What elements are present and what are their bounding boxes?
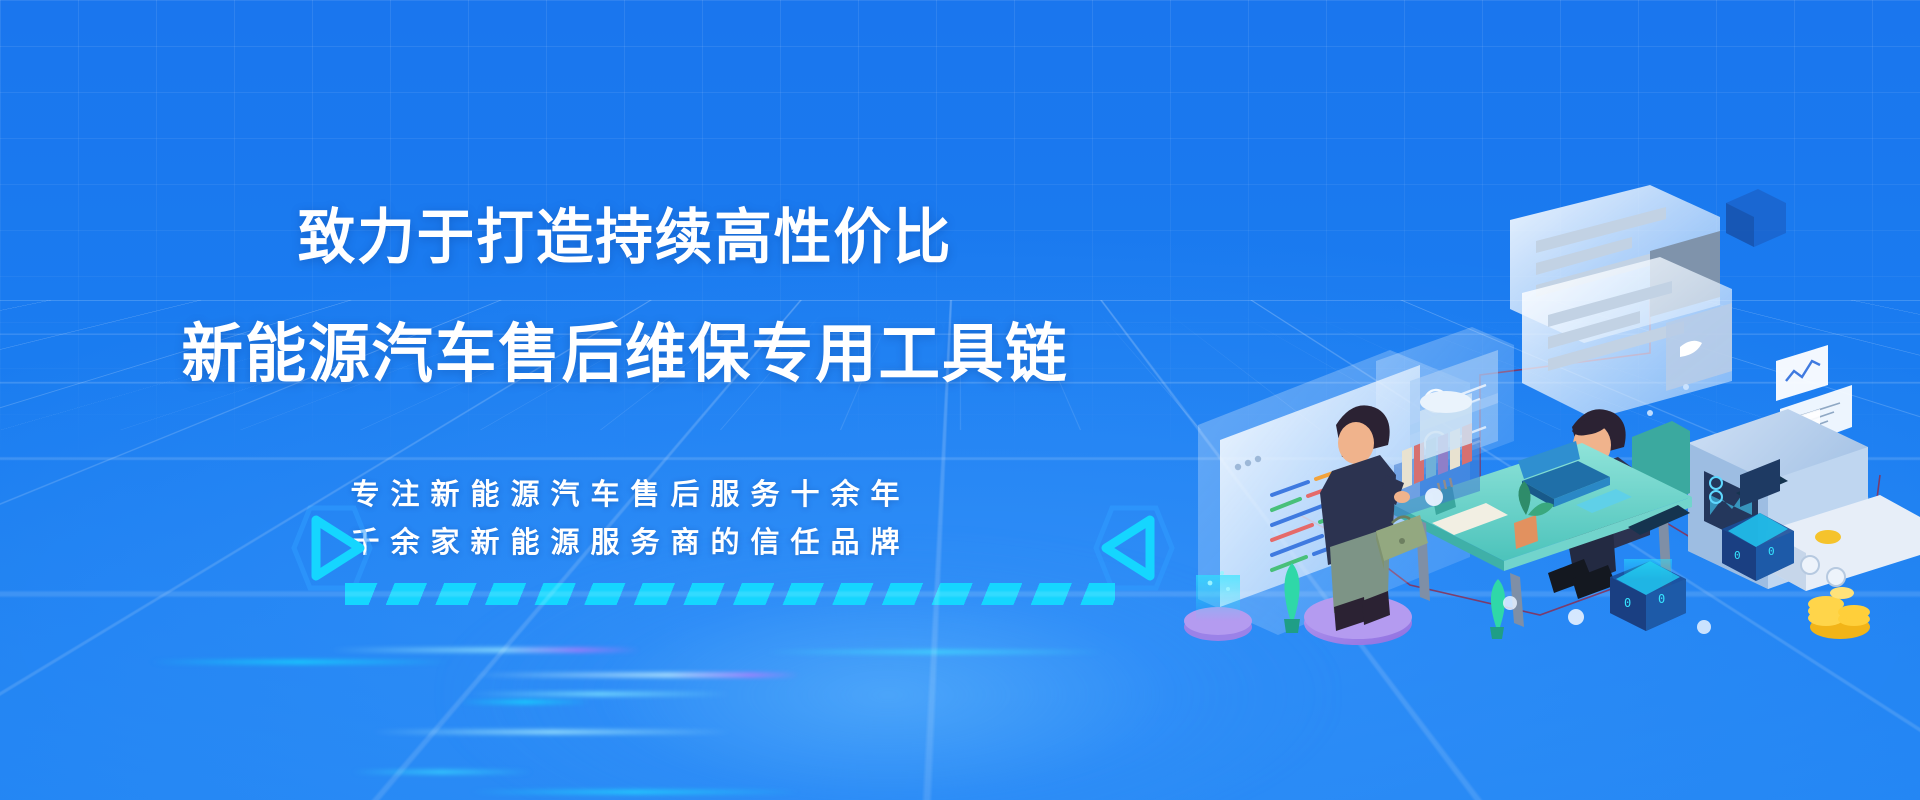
svg-text:0: 0 [1624,596,1631,610]
svg-text:0: 0 [1768,545,1775,558]
light-streak [470,673,800,677]
svg-text:0: 0 [1658,592,1665,606]
play-triangle-right-icon [290,500,374,596]
light-streak [470,790,800,794]
subtitle-block: 专注新能源汽车售后服务十余年 千余家新能源服务商的信任品牌 [0,470,1250,566]
hero-banner: 致力于打造持续高性价比 新能源汽车售后维保专用工具链 专注新能源汽车售后服务十余… [0,0,1920,800]
potted-plant [1284,563,1300,633]
floating-sphere [1425,488,1443,506]
potted-plant [1490,579,1505,639]
light-streak [765,650,1105,654]
diagonal-stripe-bar [345,583,1115,605]
isometric-business-office-illustration: 0 0 0 0 [1180,175,1920,645]
svg-text:0: 0 [1734,549,1741,562]
light-streak [372,730,732,734]
chart-document-card [1776,345,1828,401]
gold-coin-stack [1808,587,1870,639]
headline-line-2: 新能源汽车售后维保专用工具链 [25,320,1225,390]
subtitle-line-1: 专注新能源汽车售后服务十余年 [0,470,1250,518]
light-streak [470,692,730,696]
floating-cube [1726,189,1786,247]
floating-sphere [1503,596,1517,610]
play-triangle-left-icon [1092,500,1176,596]
floating-sphere [1697,620,1711,634]
floating-sphere [1683,384,1689,390]
light-streak [150,660,450,664]
light-streak [330,648,640,652]
subtitle-line-2: 千余家新能源服务商的信任品牌 [0,518,1250,566]
light-streak [352,770,532,774]
floating-sphere [1647,410,1653,416]
light-streak [460,700,590,704]
headline-line-1: 致力于打造持续高性价比 [25,205,1225,271]
illustration-label: isometric-business-office-illustration [0,0,1,1]
floating-sphere [1568,609,1584,625]
